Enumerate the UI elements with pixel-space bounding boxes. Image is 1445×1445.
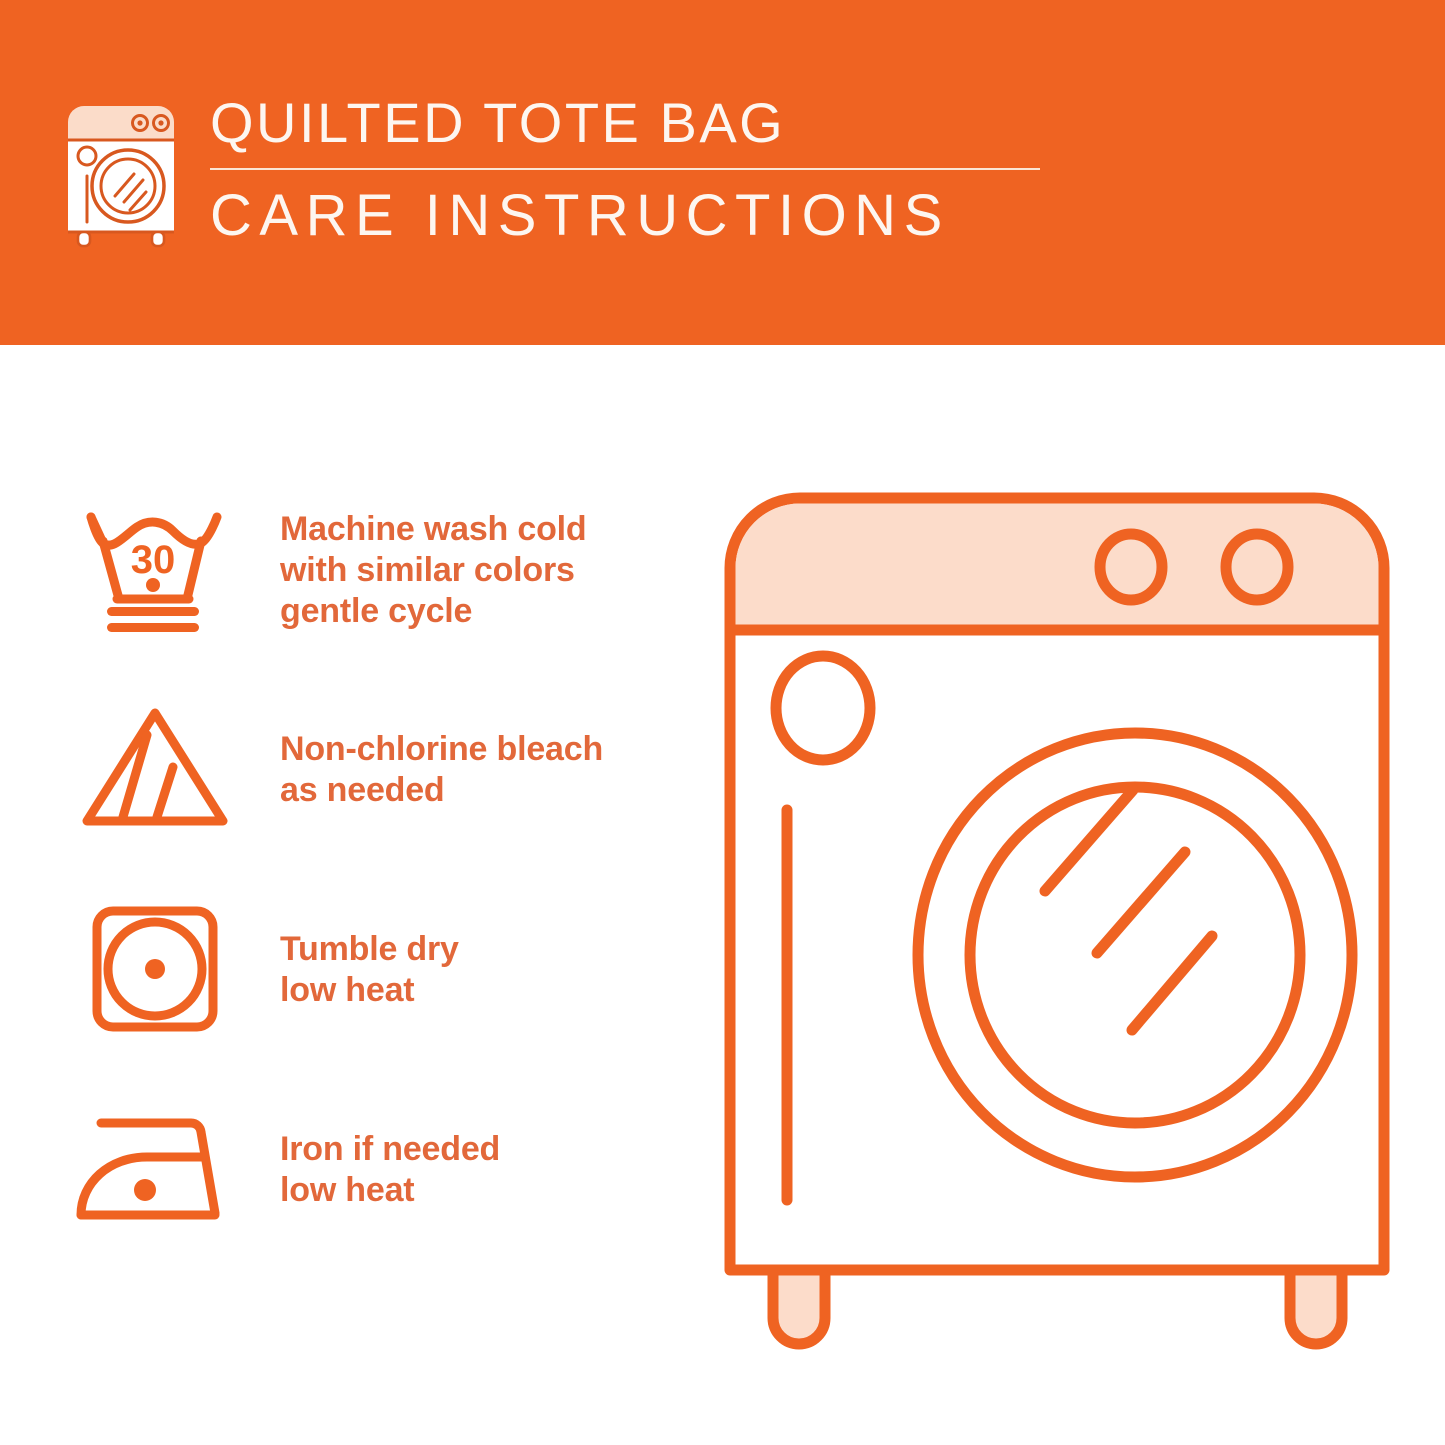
iron-low-heat-icon (62, 1083, 252, 1258)
care-label-line: as needed (280, 770, 702, 811)
washing-machine-illustration (712, 480, 1402, 1360)
care-label-line: Non-chlorine bleach (280, 729, 702, 770)
tumble-dry-low-heat-icon (62, 883, 252, 1058)
bleach-triangle-non-chlorine-icon (62, 683, 252, 858)
care-label-line: low heat (280, 970, 702, 1011)
care-label-line: gentle cycle (280, 591, 702, 632)
care-row-iron: Iron if needed low heat (62, 1070, 702, 1270)
care-label-bleach: Non-chlorine bleach as needed (252, 729, 702, 811)
page-subtitle: CARE INSTRUCTIONS (210, 184, 1042, 248)
wash-temperature-value: 30 (131, 538, 176, 582)
care-label-line: with similar colors (280, 550, 702, 591)
care-label-tumble-dry: Tumble dry low heat (252, 929, 702, 1011)
care-label-line: low heat (280, 1170, 702, 1211)
header-text-block: QUILTED TOTE BAG CARE INSTRUCTIONS (210, 92, 1042, 248)
header-divider (210, 168, 1040, 170)
care-label-machine-wash: Machine wash cold with similar colors ge… (252, 509, 702, 632)
care-label-line: Iron if needed (280, 1129, 702, 1170)
care-label-line: Tumble dry (280, 929, 702, 970)
care-row-bleach: Non-chlorine bleach as needed (62, 670, 702, 870)
care-label-iron: Iron if needed low heat (252, 1129, 702, 1211)
care-row-tumble-dry: Tumble dry low heat (62, 870, 702, 1070)
care-row-machine-wash: 30 Machine wash cold with similar colors… (62, 470, 702, 670)
wash-tub-30-gentle-icon: 30 (62, 483, 252, 658)
header-content: QUILTED TOTE BAG CARE INSTRUCTIONS (62, 92, 1002, 262)
care-instruction-list: 30 Machine wash cold with similar colors… (62, 470, 702, 1270)
page-title: QUILTED TOTE BAG (210, 92, 1042, 154)
header-band: QUILTED TOTE BAG CARE INSTRUCTIONS (0, 0, 1445, 345)
care-instructions-page: QUILTED TOTE BAG CARE INSTRUCTIONS (0, 0, 1445, 1445)
care-label-line: Machine wash cold (280, 509, 702, 550)
washing-machine-icon (62, 100, 180, 248)
